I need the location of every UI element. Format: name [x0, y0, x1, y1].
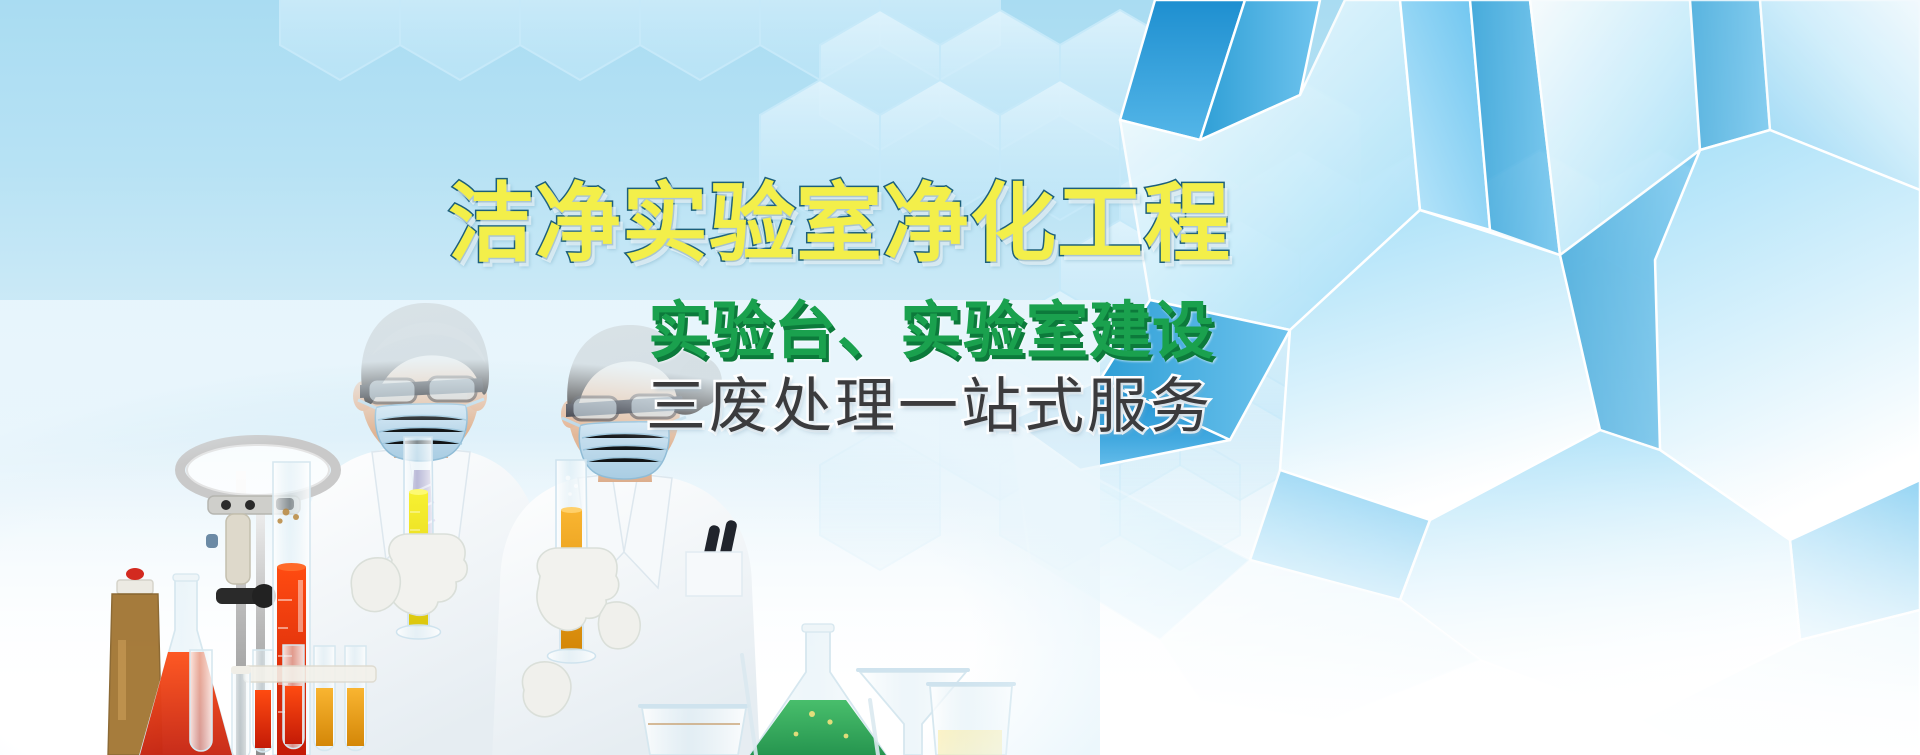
sub-headline: 实验台、实验室建设 — [648, 299, 1215, 364]
lab-purification-banner: 洁净实验室净化工程 实验台、实验室建设 三废处理一站式服务 — [0, 0, 1920, 755]
headline-group: 洁净实验室净化工程 实验台、实验室建设 三废处理一站式服务 — [0, 0, 1920, 755]
page-title: 洁净实验室净化工程 — [448, 181, 1231, 269]
tagline: 三废处理一站式服务 — [646, 375, 1213, 438]
